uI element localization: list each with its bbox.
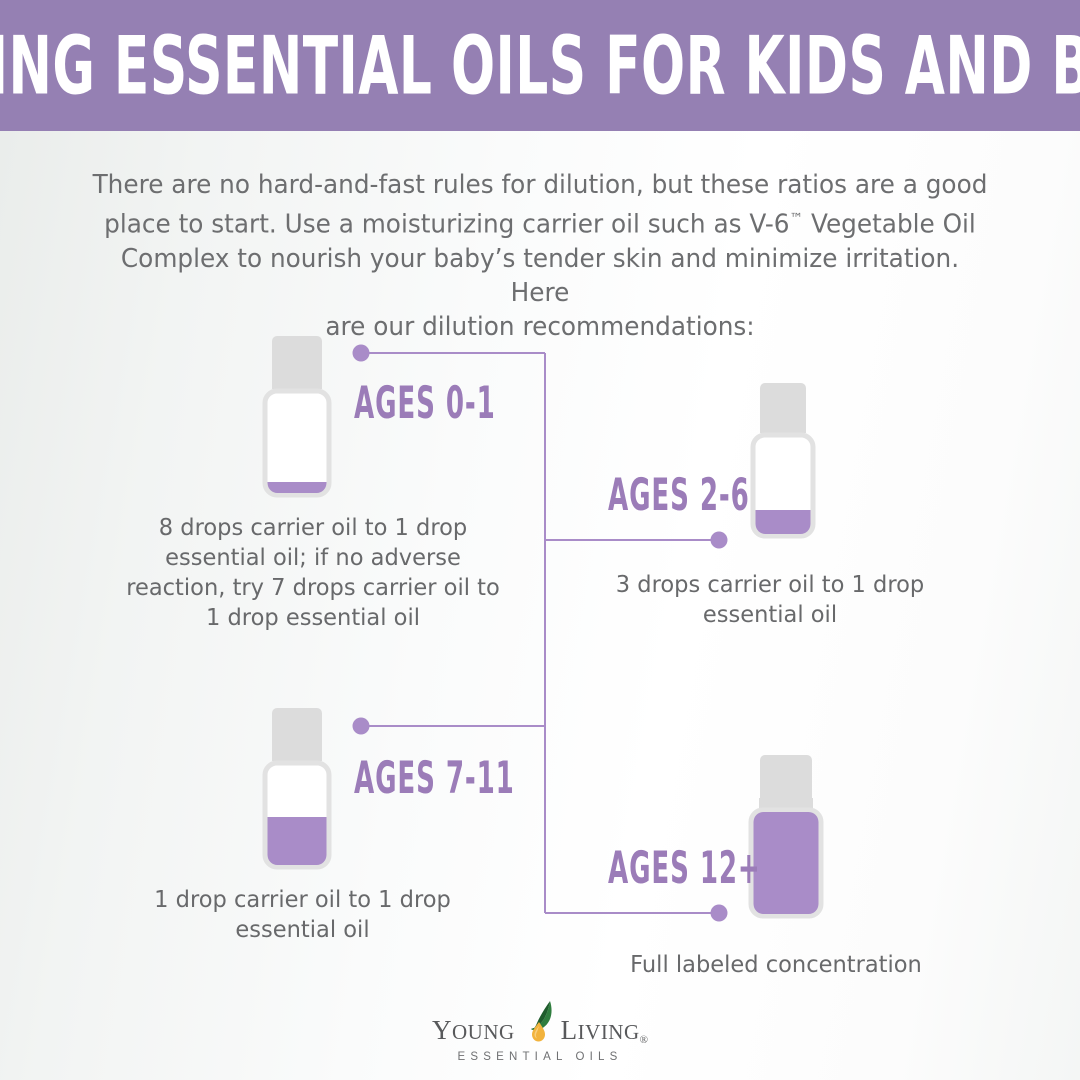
logo-word-living: Living <box>561 1011 640 1046</box>
page-title: Diluting Essential Oils for Kids and Bab… <box>0 25 1080 106</box>
bottle-ages-2-6 <box>744 380 822 542</box>
connector-dot-12-plus <box>711 905 728 922</box>
infographic-page: Diluting Essential Oils for Kids and Bab… <box>0 0 1080 1080</box>
caption-ages-12-plus: Full labeled concentration <box>604 950 949 980</box>
brand-logo: Young Living ® Essential Oils <box>0 998 1080 1063</box>
connector-dot-0-1 <box>353 345 370 362</box>
intro-line-2-pre: place to start. Use a moisturizing carri… <box>104 210 789 240</box>
intro-line-3: Complex to nourish your baby’s tender sk… <box>92 242 988 310</box>
intro-line-1: There are no hard-and-fast rules for dil… <box>92 168 988 202</box>
liquid-fill-7-11 <box>265 817 329 869</box>
intro-paragraph: There are no hard-and-fast rules for dil… <box>92 168 988 344</box>
trademark-symbol: ™ <box>789 211 803 227</box>
logo-tagline: Essential Oils <box>457 1051 622 1063</box>
liquid-fill-12-plus <box>751 810 821 918</box>
intro-line-2-post: Vegetable Oil <box>803 210 976 240</box>
caption-ages-0-1: 8 drops carrier oil to 1 drop essential … <box>122 513 504 633</box>
bottle-ages-7-11 <box>255 705 339 873</box>
caption-ages-2-6: 3 drops carrier oil to 1 drop essential … <box>603 570 936 630</box>
caption-ages-7-11: 1 drop carrier oil to 1 drop essential o… <box>129 885 477 945</box>
age-label-0-1: Ages 0-1 <box>354 376 496 429</box>
age-label-7-11: Ages 7-11 <box>354 751 515 804</box>
leaf-droplet-icon <box>519 998 559 1046</box>
bottle-ages-12-plus <box>740 752 832 924</box>
age-label-2-6: Ages 2-6 <box>608 468 750 521</box>
bottle-ages-0-1 <box>255 333 339 501</box>
registered-trademark-icon: ® <box>640 1034 648 1046</box>
intro-line-2: place to start. Use a moisturizing carri… <box>92 202 988 242</box>
connector-dot-2-6 <box>711 532 728 549</box>
header-band: Diluting Essential Oils for Kids and Bab… <box>0 0 1080 131</box>
logo-wordmark-row: Young Living ® <box>432 998 648 1046</box>
age-label-12-plus: Ages 12+ <box>608 841 761 894</box>
logo-word-young: Young <box>432 1011 515 1046</box>
connector-dot-7-11 <box>353 718 370 735</box>
intro-line-4: are our dilution recommendations: <box>92 310 988 344</box>
